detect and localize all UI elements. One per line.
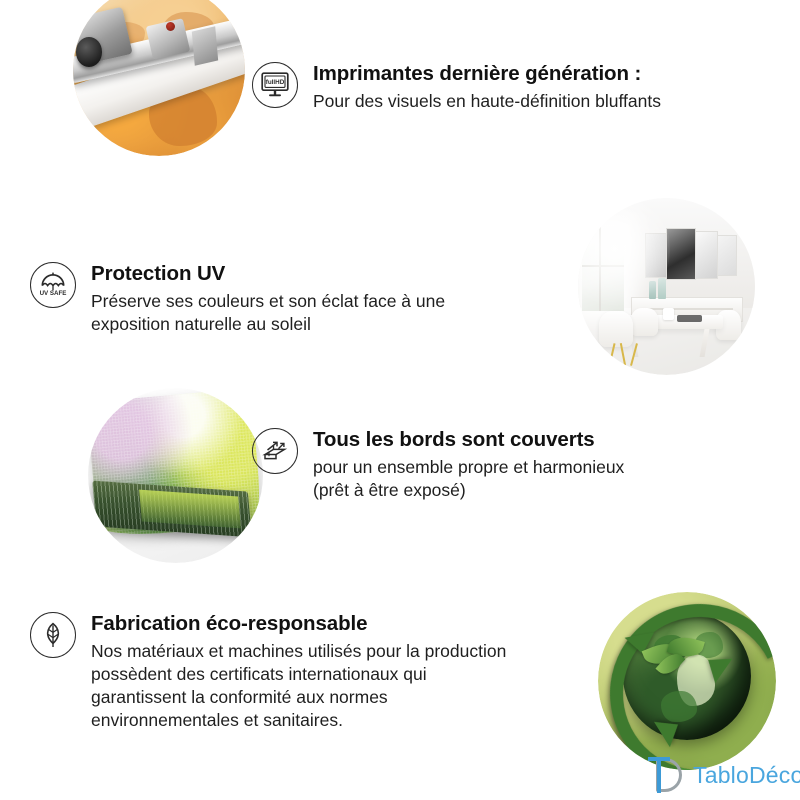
feature-eco: Fabrication éco-responsable Nos matériau… (30, 612, 506, 733)
uv-safe-umbrella-icon: UV SAFE (30, 262, 76, 308)
printer-roller-world-map-photo (73, 0, 245, 156)
infographic-canvas: fullHD Imprimantes dernière génération :… (0, 0, 800, 800)
tablodeco-wordmark: TabloDéco ™ .fr (693, 762, 800, 789)
eco-globe-recycling-photo (598, 592, 776, 770)
feature-body: Pour des visuels en haute-définition blu… (313, 90, 661, 113)
canvas-wrapped-corner-photo (88, 388, 263, 563)
feature-body-line: environnementales et sanitaires. (91, 709, 506, 732)
covered-edges-canvas-icon (252, 428, 298, 474)
feature-body-line: Pour des visuels en haute-définition blu… (313, 90, 661, 113)
feature-body-line: (prêt à être exposé) (313, 479, 624, 502)
feature-body: pour un ensemble propre et harmonieux (p… (313, 456, 624, 503)
tablodeco-logo[interactable]: TabloDéco ™ .fr (645, 756, 800, 794)
feature-body-line: pour un ensemble propre et harmonieux (313, 456, 624, 479)
feature-body-line: Nos matériaux et machines utilisés pour … (91, 640, 506, 663)
svg-text:fullHD: fullHD (266, 79, 285, 86)
feature-body: Nos matériaux et machines utilisés pour … (91, 640, 506, 733)
feature-body-line: Préserve ses couleurs et son éclat face … (91, 290, 445, 313)
feature-uv: UV SAFE Protection UV Préserve ses coule… (30, 262, 445, 336)
eco-leaf-icon (30, 612, 76, 658)
wordmark-text: TabloDéco (693, 762, 800, 788)
svg-text:UV SAFE: UV SAFE (40, 290, 67, 297)
feature-body-line: exposition naturelle au soleil (91, 313, 445, 336)
feature-heading: Protection UV (91, 262, 445, 287)
feature-body: Préserve ses couleurs et son éclat face … (91, 290, 445, 337)
feature-printer: fullHD Imprimantes dernière génération :… (252, 62, 661, 113)
feature-heading: Tous les bords sont couverts (313, 428, 624, 453)
feature-body-line: possèdent des certificats internationaux… (91, 663, 506, 686)
feature-edges: Tous les bords sont couverts pour un ens… (252, 428, 624, 502)
full-hd-monitor-icon: fullHD (252, 62, 298, 108)
feature-heading: Fabrication éco-responsable (91, 612, 506, 637)
bright-interior-wall-art-photo (578, 198, 755, 375)
feature-heading: Imprimantes dernière génération : (313, 62, 661, 87)
feature-body-line: garantissent la conformité aux normes (91, 686, 506, 709)
tablodeco-monogram-icon (645, 756, 689, 794)
